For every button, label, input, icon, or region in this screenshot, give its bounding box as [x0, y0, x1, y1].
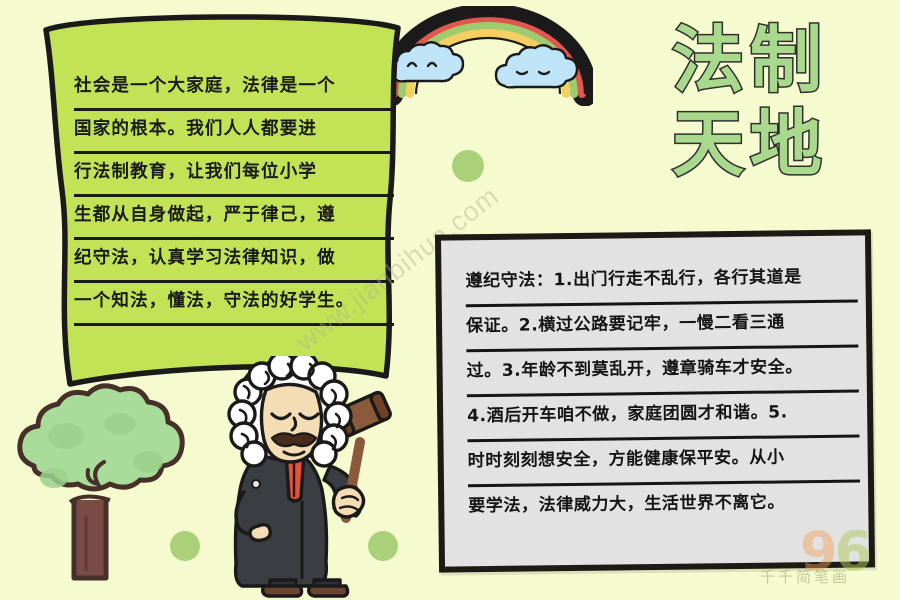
handwritten-newspaper-poster: 社会是一个大家庭，法律是一个 国家的根本。我们人人都要进 行法制教育，让我们每位…: [0, 0, 900, 600]
title-line: 天地: [604, 102, 896, 186]
decor-dot: [452, 150, 484, 182]
rules-line: 要学法，法律威力大，生活世界不离它。: [468, 483, 860, 530]
decorative-tree: [8, 378, 204, 600]
page-title: 法制 天地: [604, 18, 896, 186]
watermark-brand: 千千简笔画: [760, 566, 850, 587]
rules-note-box: 遵纪守法：1.出门行走不乱行，各行其道是 保证。2.横过公路要记牢，一慢二看三通…: [435, 229, 875, 572]
banner-line: 社会是一个大家庭，法律是一个: [74, 68, 394, 111]
title-line: 法制: [604, 18, 896, 102]
green-banner: 社会是一个大家庭，法律是一个 国家的根本。我们人人都要进 行法制教育，让我们每位…: [18, 10, 418, 400]
rules-line: 过。3.年龄不到莫乱开，遵章骑车才安全。: [466, 348, 859, 398]
banner-paragraph: 社会是一个大家庭，法律是一个 国家的根本。我们人人都要进 行法制教育，让我们每位…: [74, 68, 394, 326]
banner-line: 纪守法，认真学习法律知识，做: [74, 240, 394, 283]
banner-line: 生都从自身做起，严于律己，遵: [74, 197, 394, 240]
rules-line: 时时刻刻想安全，方能健康保平安。从小: [467, 438, 860, 488]
rules-line: 4.酒后开车咱不做，家庭团圆才和谐。5.: [467, 393, 860, 443]
rules-line: 遵纪守法：1.出门行走不乱行，各行其道是: [465, 258, 858, 308]
judge-character: [214, 356, 404, 600]
rules-paragraph: 遵纪守法：1.出门行走不乱行，各行其道是 保证。2.横过公路要记牢，一慢二看三通…: [465, 258, 860, 530]
banner-line: 一个知法，懂法，守法的好学生。: [74, 283, 394, 326]
banner-line: 国家的根本。我们人人都要进: [74, 111, 394, 154]
banner-line: 行法制教育，让我们每位小学: [74, 154, 394, 197]
rules-line: 保证。2.横过公路要记牢，一慢二看三通: [466, 303, 859, 353]
